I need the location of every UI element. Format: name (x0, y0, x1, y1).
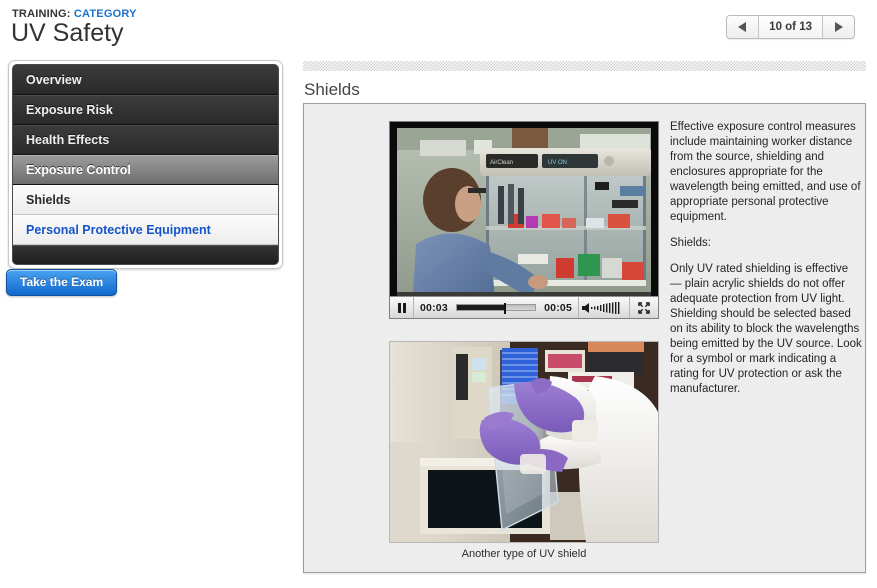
sidebar-item-label: Health Effects (26, 133, 109, 147)
pagination-control: 10 of 13 (726, 15, 855, 39)
seek-handle[interactable] (504, 303, 506, 314)
fullscreen-icon (638, 302, 650, 314)
course-navigation: Overview Exposure Risk Health Effects Ex… (8, 60, 283, 269)
sidebar-item-health-effects[interactable]: Health Effects (13, 125, 278, 155)
sidebar-item-shields[interactable]: Shields (13, 185, 278, 215)
speaker-icon (582, 302, 626, 314)
body-text: Effective exposure control measures incl… (670, 120, 862, 408)
pause-button[interactable] (390, 297, 414, 318)
take-exam-button[interactable]: Take the Exam (6, 269, 117, 296)
page-title: UV Safety (11, 20, 124, 48)
course-navigation-list: Overview Exposure Risk Health Effects Ex… (12, 64, 279, 265)
next-page-button[interactable] (823, 16, 854, 38)
prev-page-button[interactable] (727, 16, 758, 38)
fullscreen-button[interactable] (630, 302, 658, 314)
sidebar-item-label: Personal Protective Equipment (26, 223, 211, 237)
paragraph-1: Effective exposure control measures incl… (670, 120, 862, 225)
uv-shield-photo (389, 341, 659, 543)
triangle-right-icon (834, 22, 843, 32)
volume-control[interactable] (578, 297, 630, 318)
seek-progress (457, 305, 504, 310)
hatched-divider (303, 61, 866, 71)
photo-caption: Another type of UV shield (389, 548, 659, 560)
svg-text:AirClean: AirClean (490, 160, 513, 166)
sidebar-item-exposure-risk[interactable]: Exposure Risk (13, 95, 278, 125)
current-time: 00:03 (414, 302, 454, 314)
duration: 00:05 (538, 302, 578, 314)
sidebar-item-exposure-control[interactable]: Exposure Control (13, 155, 278, 185)
pause-icon (398, 303, 406, 313)
sidebar-item-label: Overview (26, 73, 82, 87)
sidebar-item-overview[interactable]: Overview (13, 65, 278, 95)
video-controls: 00:03 00:05 (390, 296, 658, 318)
svg-text:UV ON: UV ON (548, 160, 567, 166)
paragraph-2: Shields: (670, 236, 862, 251)
content-panel: AirClean UV ON (303, 103, 866, 573)
gloved-hands-uv-shield-illustration (390, 342, 658, 542)
training-page: TRAINING: CATEGORY UV Safety 10 of 13 Ov… (0, 0, 877, 588)
triangle-left-icon (738, 22, 747, 32)
section-title: Shields (304, 80, 360, 100)
sidebar-item-personal-protective-equipment[interactable]: Personal Protective Equipment (13, 215, 278, 245)
sidebar-item-label: Exposure Risk (26, 103, 113, 117)
sidebar-item-label: Exposure Control (26, 163, 131, 177)
video-frame-image: AirClean UV ON (390, 122, 658, 318)
sidebar-item-label: Shields (26, 193, 70, 207)
lab-worker-biosafety-cabinet-illustration: AirClean UV ON (390, 122, 658, 318)
paragraph-3: Only UV rated shielding is effective — p… (670, 262, 862, 397)
seek-bar[interactable] (456, 304, 536, 311)
navigation-footer-bar (13, 245, 278, 264)
page-indicator: 10 of 13 (758, 16, 823, 38)
video-player[interactable]: AirClean UV ON (389, 121, 659, 319)
